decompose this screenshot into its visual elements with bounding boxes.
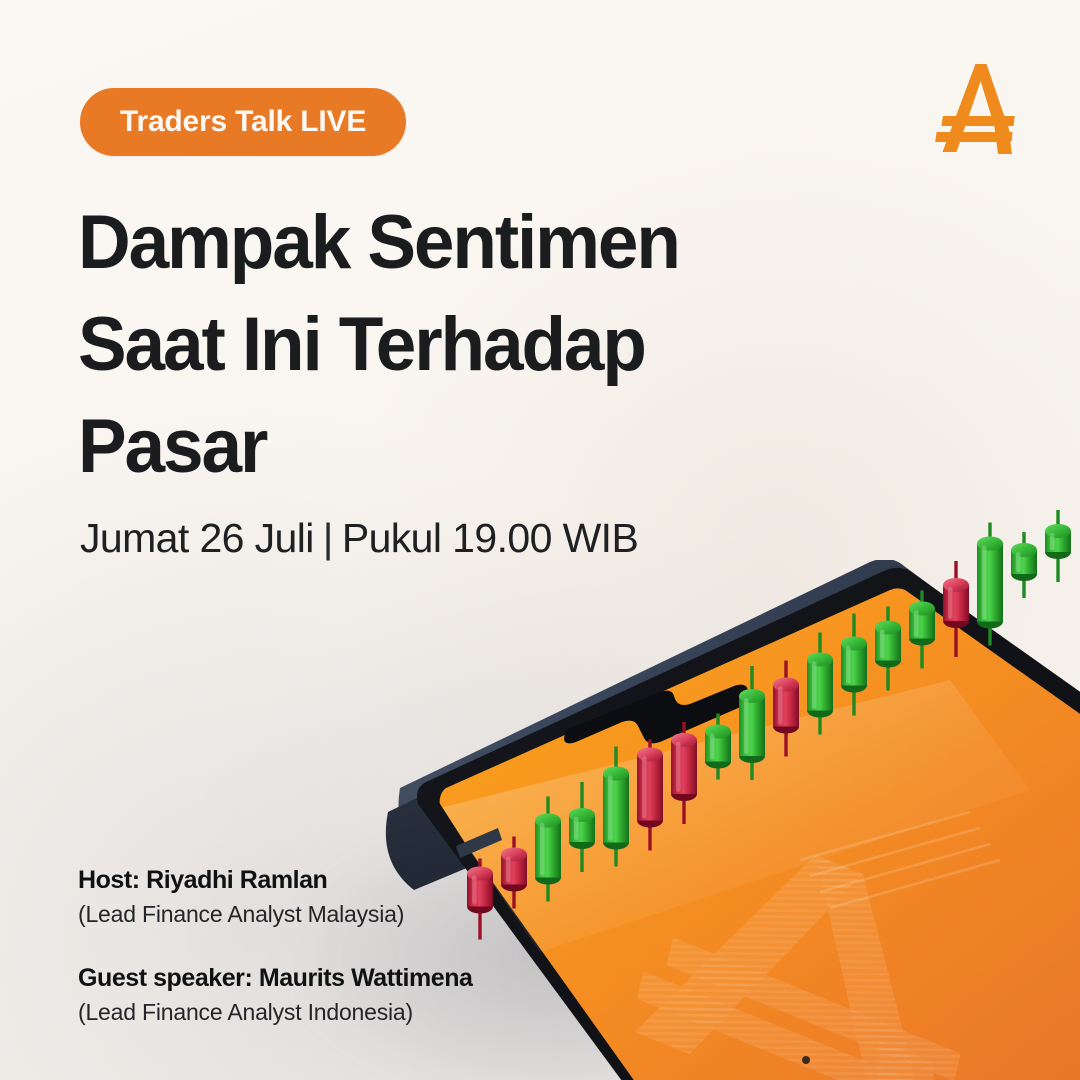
speaker-host-role: (Lead Finance Analyst Malaysia) <box>78 901 598 928</box>
a-logo-watermark-icon <box>630 801 991 1080</box>
candle-17 <box>1011 532 1037 598</box>
device-notch <box>564 685 752 744</box>
candle-8 <box>705 714 731 780</box>
schedule-line: Jumat 26 Juli|Pukul 19.00 WIB <box>80 515 638 562</box>
schedule-time: Pukul 19.00 WIB <box>342 515 638 561</box>
speakers-block: Host: Riyadhi Ramlan (Lead Finance Analy… <box>78 866 598 1026</box>
candle-16 <box>977 523 1003 646</box>
candle-5 <box>603 747 629 867</box>
device-side-button <box>456 828 502 858</box>
schedule-date: Jumat 26 Juli <box>80 515 314 561</box>
headline-line-1: Dampak Sentimen <box>78 192 808 294</box>
headline-line-3: Pasar <box>78 396 808 498</box>
speaker-guest-name: Guest speaker: Maurits Wattimena <box>78 964 598 993</box>
schedule-separator: | <box>314 515 342 561</box>
headline-line-2: Saat Ini Terhadap <box>78 294 808 396</box>
device-speaker-dot <box>802 1056 810 1064</box>
live-badge[interactable]: Traders Talk LIVE <box>80 88 406 156</box>
candle-12 <box>841 614 867 716</box>
candle-9 <box>739 666 765 780</box>
live-badge-label: Traders Talk LIVE <box>120 105 366 139</box>
poster-canvas: Traders Talk LIVE Dampak Sentimen Saat I… <box>0 0 1080 1080</box>
speaker-guest: Guest speaker: Maurits Wattimena (Lead F… <box>78 964 598 1026</box>
speaker-host-name: Host: Riyadhi Ramlan <box>78 866 598 895</box>
candle-13 <box>875 607 901 691</box>
candle-11 <box>807 633 833 735</box>
speaker-guest-role: (Lead Finance Analyst Indonesia) <box>78 999 598 1026</box>
candle-7 <box>671 722 697 824</box>
candle-14 <box>909 591 935 669</box>
candle-6 <box>637 740 663 851</box>
candle-10 <box>773 661 799 757</box>
candle-15 <box>943 561 969 657</box>
candle-18 <box>1045 510 1071 582</box>
speaker-host: Host: Riyadhi Ramlan (Lead Finance Analy… <box>78 866 598 928</box>
page-title: Dampak Sentimen Saat Ini Terhadap Pasar <box>78 192 808 498</box>
anugerah-a-logo-icon <box>928 58 1032 158</box>
candle-4 <box>569 782 595 872</box>
